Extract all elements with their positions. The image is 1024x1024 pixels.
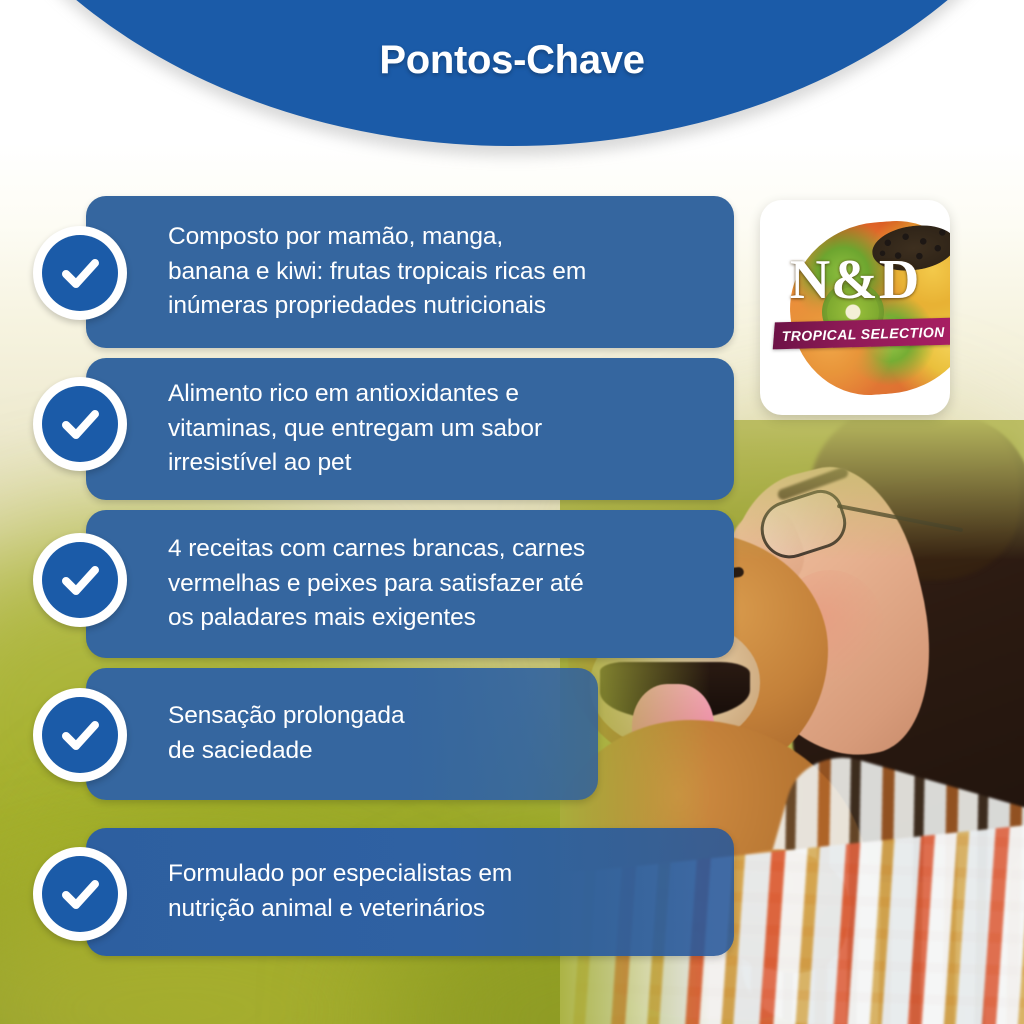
- check-circle-icon: [33, 847, 127, 941]
- key-point-text: Alimento rico em antioxidantes e vitamin…: [168, 377, 542, 481]
- key-point-card: Sensação prolongada de saciedade: [86, 668, 598, 800]
- check-icon-disc: [42, 235, 118, 311]
- key-point-card: Formulado por especialistas em nutrição …: [86, 828, 734, 956]
- key-point-card: 4 receitas com carnes brancas, carnes ve…: [86, 510, 734, 658]
- check-icon-disc: [42, 697, 118, 773]
- key-point-text: Composto por mamão, manga, banana e kiwi…: [168, 220, 586, 324]
- key-point-text: Formulado por especialistas em nutrição …: [168, 857, 512, 927]
- check-circle-icon: [33, 688, 127, 782]
- check-icon-disc: [42, 386, 118, 462]
- check-circle-icon: [33, 533, 127, 627]
- key-point-card: Alimento rico em antioxidantes e vitamin…: [86, 358, 734, 500]
- check-icon-disc: [42, 856, 118, 932]
- infographic-canvas: Pontos-Chave N&D TROPICAL SELECTION Comp…: [0, 0, 1024, 1024]
- check-circle-icon: [33, 377, 127, 471]
- key-point-text: Sensação prolongada de saciedade: [168, 699, 405, 769]
- key-point-card: Composto por mamão, manga, banana e kiwi…: [86, 196, 734, 348]
- check-circle-icon: [33, 226, 127, 320]
- check-icon-disc: [42, 542, 118, 618]
- key-point-text: 4 receitas com carnes brancas, carnes ve…: [168, 532, 585, 636]
- key-points-list: Composto por mamão, manga, banana e kiwi…: [0, 0, 1024, 1024]
